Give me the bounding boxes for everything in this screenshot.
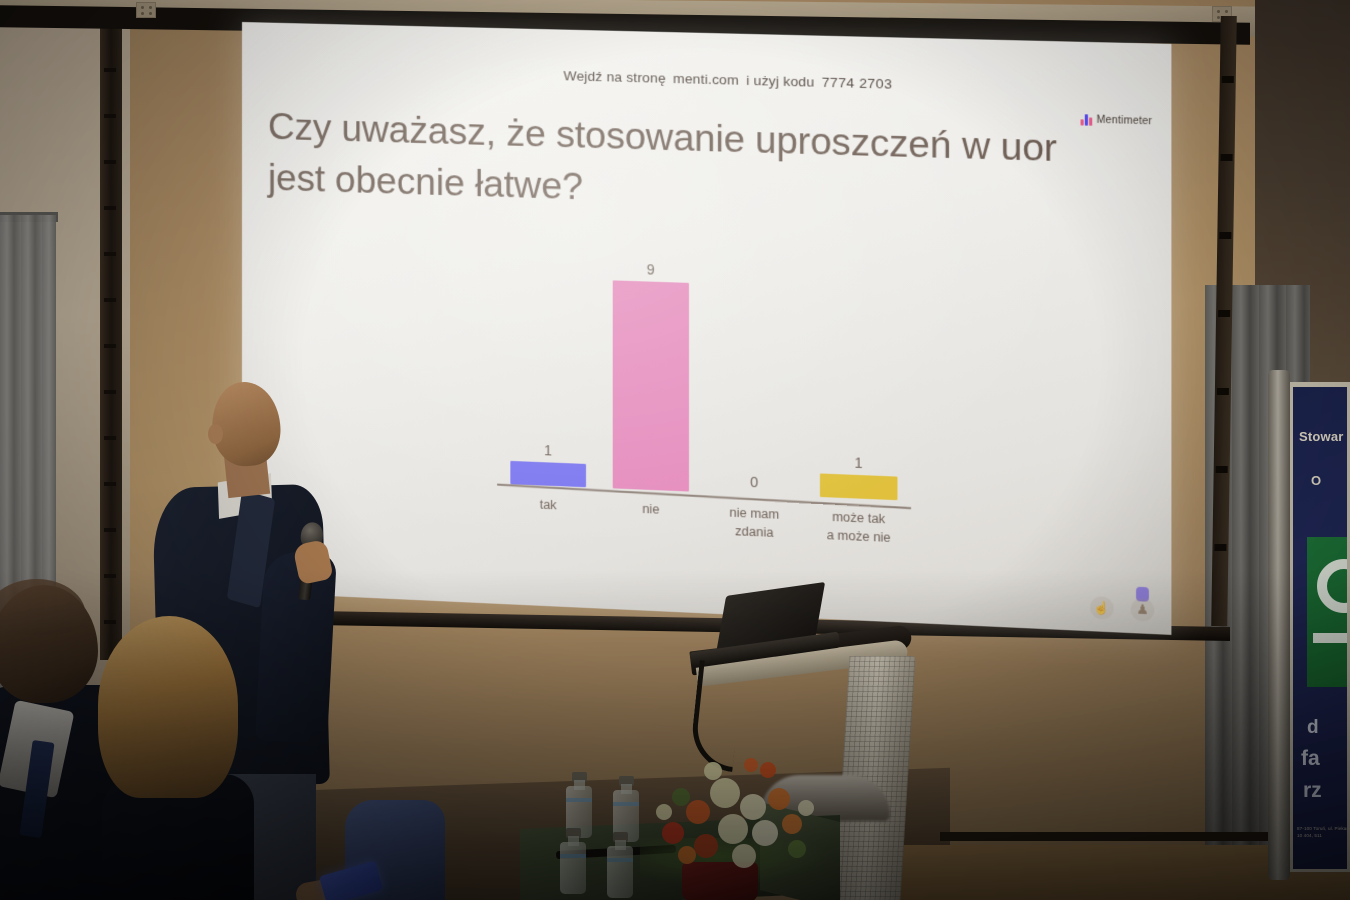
- flower-blossom: [710, 778, 740, 808]
- banner-text-line5: rz: [1303, 779, 1322, 803]
- bar-rect: [820, 473, 898, 500]
- door-frame-detail: [104, 0, 118, 660]
- water-bottle: [607, 832, 633, 898]
- category-label: nie: [599, 492, 702, 521]
- flower-blossom: [744, 758, 758, 772]
- speaker-head: [208, 379, 283, 469]
- flower-blossom: [656, 804, 672, 820]
- flower-blossom: [662, 822, 684, 844]
- flower-blossom: [798, 800, 814, 816]
- flower-blossom: [768, 788, 790, 810]
- category-label: nie mamzdania: [702, 496, 806, 544]
- menti-instruction-lead: Wejdź na stronę: [563, 68, 665, 86]
- flower-blossom: [752, 820, 778, 846]
- category-label: może taka może nie: [806, 500, 911, 548]
- participants-icon[interactable]: ♟: [1131, 598, 1155, 622]
- flower-blossom: [678, 846, 696, 864]
- seated-woman-foreground: [98, 616, 258, 900]
- flower-blossom: [732, 844, 756, 868]
- banner-green-logo: [1307, 537, 1350, 687]
- flower-blossom: [694, 834, 718, 858]
- menti-domain: menti.com: [673, 71, 739, 88]
- flower-blossom: [740, 794, 766, 820]
- bar-value-label: 1: [544, 442, 552, 459]
- conference-room-scene: Wejdź na stronęmenti.comi użyj kodu7774 …: [0, 0, 1350, 900]
- flower-blossom: [782, 814, 802, 834]
- flower-blossom: [704, 762, 722, 780]
- slide-reaction-icons[interactable]: ☝ ♟: [1090, 596, 1154, 622]
- flower-blossom: [760, 762, 776, 778]
- water-bottle: [560, 828, 586, 894]
- poll-bar-chart: 1901 taknienie mamzdaniamoże taka może n…: [497, 245, 922, 567]
- bar-column: 9: [599, 255, 702, 493]
- menti-join-instruction: Wejdź na stronęmenti.comi użyj kodu7774 …: [563, 68, 892, 92]
- menti-instruction-middle: i użyj kodu: [746, 73, 814, 90]
- bar-column: 0: [702, 258, 806, 497]
- floor-baseboard: [940, 832, 1270, 841]
- chart-bars: 1901: [497, 251, 911, 500]
- bar-value-label: 0: [750, 474, 758, 491]
- category-label: tak: [497, 488, 599, 517]
- flower-blossom: [672, 788, 690, 806]
- bar-rect: [613, 280, 689, 491]
- slide-question-title: Czy uważasz, że stosowanie uproszczeń w …: [268, 101, 1105, 229]
- seated-man-hair: [0, 579, 86, 635]
- flower-blossom: [718, 814, 748, 844]
- banner-text-line4: fa: [1301, 747, 1320, 771]
- housing-bracket-left: [136, 2, 156, 18]
- roll-up-banner: Stowar O d fa rz 87-100 Toruń, ul. Pieka…: [1290, 382, 1350, 872]
- bar-rect: [716, 493, 793, 496]
- banner-org-line2: O: [1311, 473, 1321, 488]
- bar-value-label: 1: [855, 454, 863, 471]
- banner-stand-pole: [1268, 370, 1290, 880]
- bar-value-label: 9: [647, 261, 655, 278]
- menti-join-code: 7774 2703: [822, 75, 893, 92]
- flower-arrangement: [648, 748, 828, 878]
- projected-slide: Wejdź na stronęmenti.comi użyj kodu7774 …: [242, 22, 1171, 635]
- flower-blossom: [788, 840, 806, 858]
- banner-text-line3: d: [1307, 717, 1319, 739]
- bar-column: 1: [806, 261, 911, 500]
- banner-contact-info: 87-100 Toruń, ul. Piekary tel. (56) 62 1…: [1297, 825, 1350, 839]
- bar-rect: [510, 461, 586, 487]
- speaker-ear: [208, 424, 223, 444]
- seated-woman-hair: [98, 616, 238, 798]
- bar-column: 1: [497, 251, 599, 488]
- chart-category-labels: taknienie mamzdaniamoże taka może nie: [497, 488, 911, 567]
- flower-blossom: [686, 800, 710, 824]
- banner-org-line1: Stowar: [1299, 429, 1344, 444]
- thumbs-up-icon[interactable]: ☝: [1090, 596, 1113, 620]
